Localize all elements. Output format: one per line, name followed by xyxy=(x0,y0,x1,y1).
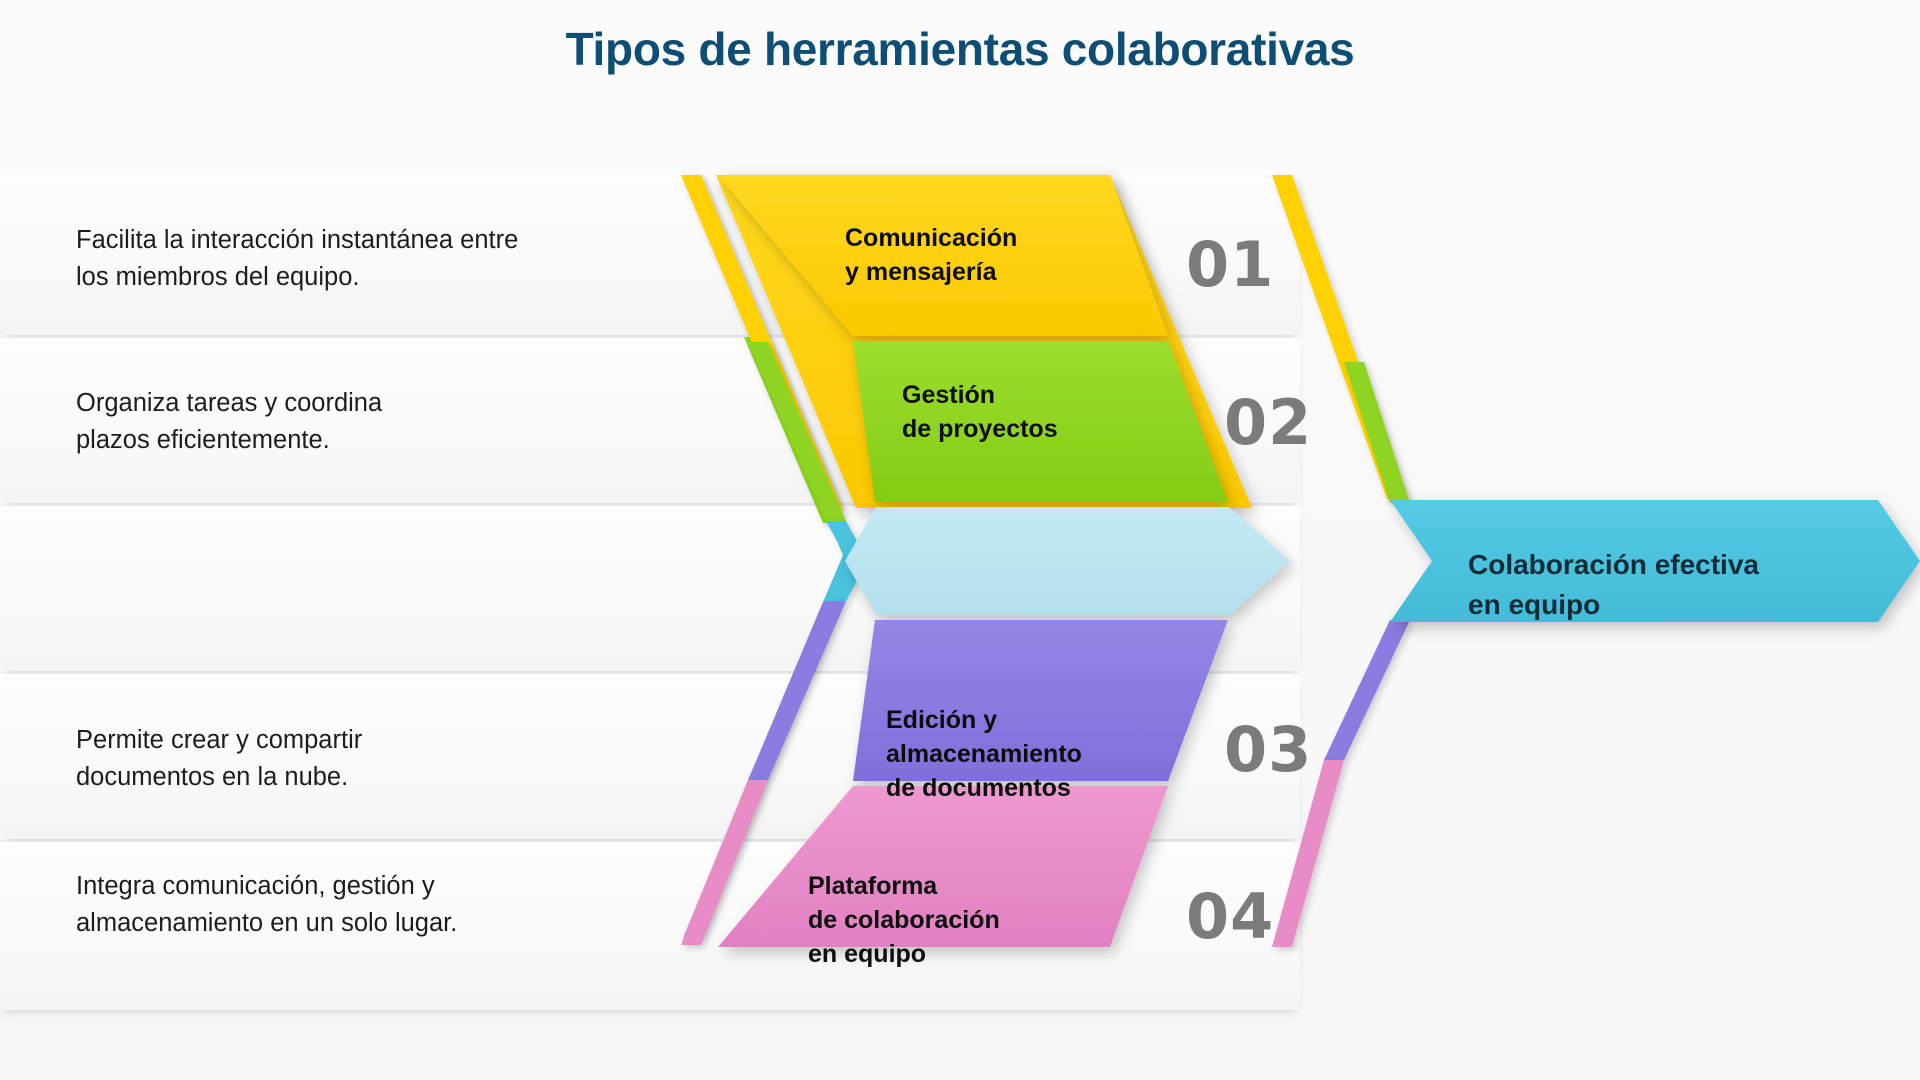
step-label-4: Plataforma de colaboración en equipo xyxy=(808,869,1128,971)
step-description-1: Facilita la interacción instantánea entr… xyxy=(76,222,518,296)
step-label-2: Gestión de proyectos xyxy=(902,378,1202,446)
goal-label: Colaboración efectiva en equipo xyxy=(1468,545,1759,625)
step-label-1: Comunicación y mensajería xyxy=(845,221,1145,289)
infographic-canvas: Tipos de herramientas colaborativas xyxy=(0,0,1920,1080)
step-description-3: Permite crear y compartir documentos en … xyxy=(76,722,362,796)
step-description-4: Integra comunicación, gestión y almacena… xyxy=(76,868,457,942)
right-stripe-purple xyxy=(1324,620,1410,760)
step-description-2: Organiza tareas y coordina plazos eficie… xyxy=(76,385,382,459)
page-title: Tipos de herramientas colaborativas xyxy=(0,22,1920,76)
step-number-4: 04 xyxy=(1186,880,1274,953)
step-number-2: 02 xyxy=(1224,386,1312,459)
right-stripe-green-2 xyxy=(1344,362,1410,503)
row-band-3 xyxy=(0,506,1300,671)
step-number-1: 01 xyxy=(1186,228,1274,301)
step-number-3: 03 xyxy=(1224,713,1312,786)
step-label-3: Edición y almacenamiento de documentos xyxy=(886,703,1206,805)
